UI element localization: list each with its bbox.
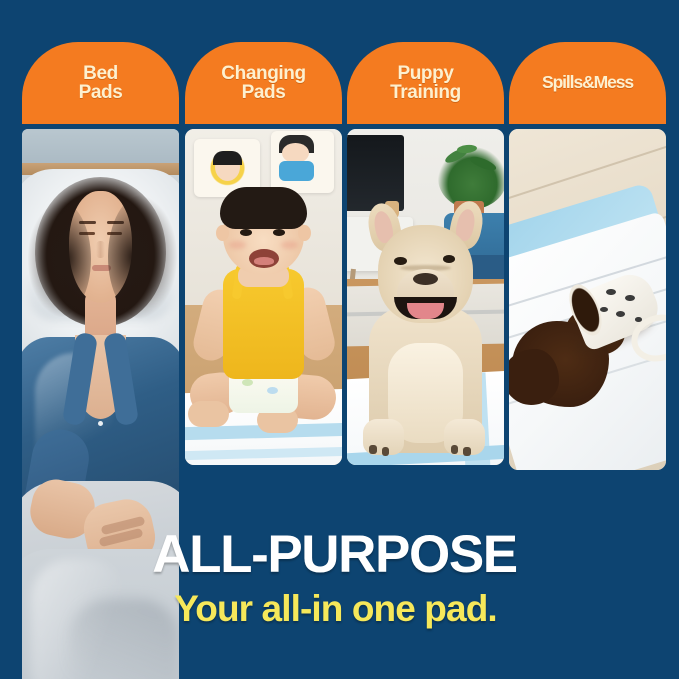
headline-primary: ALL-PURPOSE [0, 528, 679, 581]
baby-ear-right [298, 225, 311, 241]
panel-tab-puppy-training[interactable]: Puppy Training [347, 42, 504, 124]
woman-hair-curls-right [108, 195, 177, 319]
bed-headboard [22, 129, 179, 167]
mug-floral-motif-5 [600, 307, 608, 312]
baby-foot-left [188, 401, 229, 427]
diaper-pattern-dot-1 [242, 379, 253, 386]
dog-toe-2 [382, 447, 390, 456]
baby-bangs [223, 209, 305, 223]
headline-secondary: Your all-in one pad. [0, 590, 679, 627]
baby-tongue [254, 257, 274, 265]
use-case-panel-puppy-training[interactable]: Puppy Training [347, 42, 504, 465]
baby-cheek-right [281, 241, 298, 249]
television [347, 135, 404, 211]
wall-poster-right-body [279, 161, 314, 181]
coffee-spill-lobe [509, 349, 559, 405]
panel-tab-changing-pads[interactable]: Changing Pads [185, 42, 342, 124]
panel-tab-bed-pads[interactable]: Bed Pads [22, 42, 179, 124]
panel-photo-spills-and-mess [509, 129, 666, 470]
diaper-pattern-dot-2 [267, 387, 278, 394]
panel-photo-puppy-training [347, 129, 504, 465]
panel-tab-label-puppy-training: Puppy Training [390, 64, 461, 103]
woman-hair-curls-left [28, 201, 91, 317]
dog-toe-1 [369, 445, 377, 454]
panel-photo-changing-pads [185, 129, 342, 465]
mug-floral-motif-1 [606, 289, 615, 295]
product-feature-poster: Bed Pads [0, 0, 679, 679]
panel-tab-spills-and-mess[interactable]: Spills&Mess [509, 42, 666, 124]
use-case-panel-changing-pads[interactable]: Changing Pads [185, 42, 342, 465]
dog-eye-left [394, 257, 407, 265]
mug-floral-motif-3 [616, 311, 625, 317]
headline-block: ALL-PURPOSE Your all-in one pad. [0, 528, 679, 627]
panel-tab-label-bed-pads: Bed Pads [79, 64, 123, 103]
dog-nose [413, 273, 438, 285]
dog-toe-3 [451, 445, 459, 454]
panel-tab-label-spills-and-mess: Spills&Mess [542, 74, 633, 92]
woman-nose [96, 241, 105, 258]
wall-poster-left-hair [213, 151, 241, 165]
baby-ear-left [216, 225, 229, 241]
use-case-panel-spills-and-mess[interactable]: Spills&Mess [509, 42, 666, 470]
dog-toe-4 [463, 447, 471, 456]
wall-poster-right-face [282, 143, 309, 163]
panel-tab-label-changing-pads: Changing Pads [221, 64, 305, 103]
mug-floral-motif-2 [625, 295, 634, 301]
